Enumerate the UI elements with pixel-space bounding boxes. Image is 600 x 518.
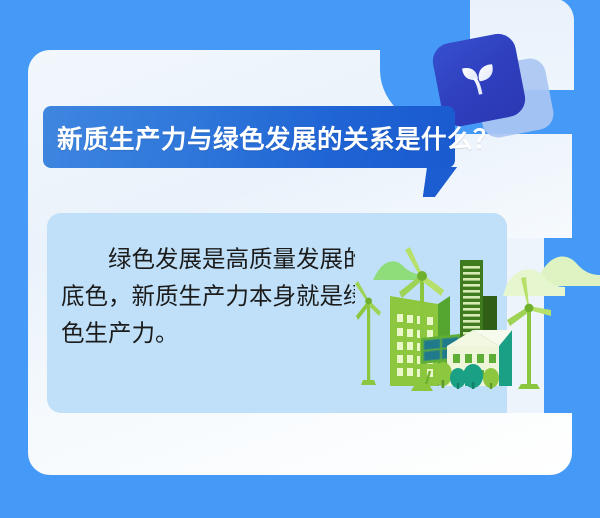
sprout-leaf-icon [452, 53, 506, 107]
poster-canvas: 新质生产力与绿色发展的关系是什么？ 绿色发展是高质量发展的底色，新质生产力本身就… [0, 0, 600, 518]
title-bubble: 新质生产力与绿色发展的关系是什么？ [43, 106, 455, 168]
content-card: 绿色发展是高质量发展的底色，新质生产力本身就是绿色生产力。 [47, 213, 507, 413]
page-title: 新质生产力与绿色发展的关系是什么？ [43, 119, 499, 156]
body-paragraph: 绿色发展是高质量发展的底色，新质生产力本身就是绿色生产力。 [61, 241, 381, 352]
speech-bubble-tail [423, 167, 457, 197]
